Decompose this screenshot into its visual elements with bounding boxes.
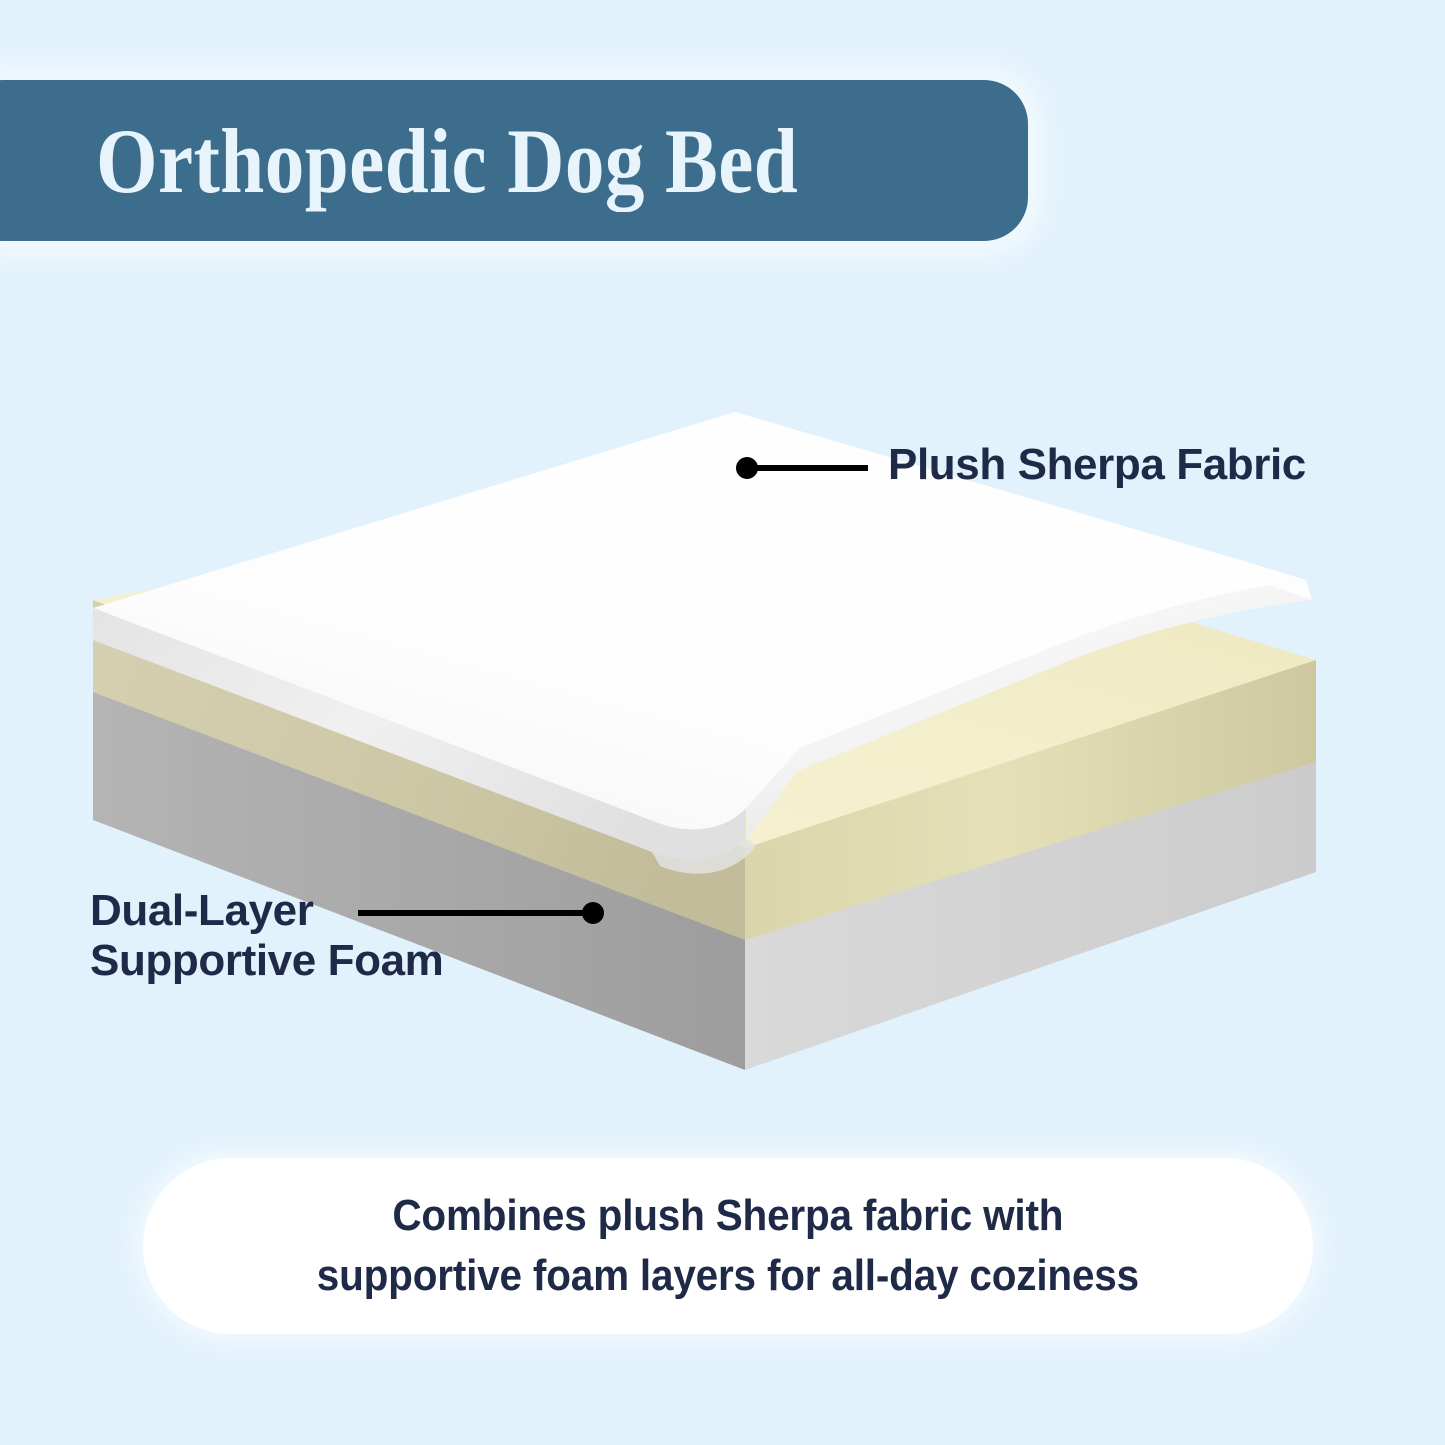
title-banner: Orthopedic Dog Bed: [0, 80, 1028, 241]
layer-cream-memory-foam: [93, 484, 1316, 940]
layer-gray-support-base: [93, 566, 1316, 1070]
callout-dot-top: [736, 457, 758, 479]
infographic-canvas: Orthopedic Dog Bed: [0, 0, 1445, 1445]
layer-divider-sheet: [93, 552, 1316, 932]
page-title: Orthopedic Dog Bed: [96, 115, 798, 207]
callout-label-dual-layer-supportive-foam: Dual-Layer Supportive Foam: [90, 886, 443, 986]
callout-label-plush-sherpa-fabric: Plush Sherpa Fabric: [888, 440, 1306, 490]
callout-dot-bottom: [582, 902, 604, 924]
leader-line-plush-sherpa-fabric: [736, 457, 868, 479]
caption-text: Combines plush Sherpa fabric with suppor…: [317, 1186, 1139, 1306]
caption-card: Combines plush Sherpa fabric with suppor…: [143, 1158, 1313, 1334]
